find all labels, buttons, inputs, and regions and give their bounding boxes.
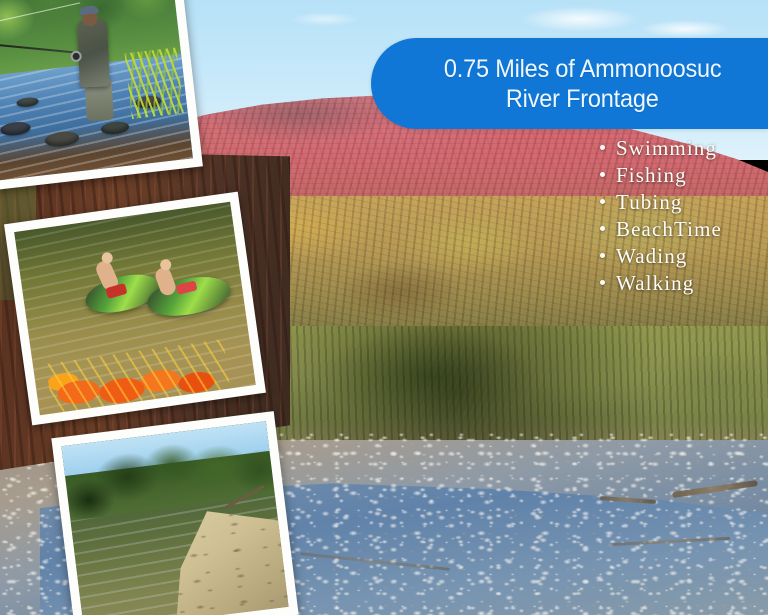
bullet-icon [600,280,605,285]
headline-line-2: River Frontage [506,84,659,114]
bank-grass [125,47,184,118]
list-item: Wading [600,244,722,271]
cloud-icon [520,6,640,32]
river-beach-photo-image [61,421,288,615]
list-item: Swimming [600,136,722,163]
promo-graphic: 0.75 Miles of Ammonoosuc River Frontage … [0,0,768,615]
fly-fishing-photo [0,0,203,190]
activity-list: Swimming Fishing Tubing BeachTime Wading… [600,136,722,298]
angler-body [77,19,110,88]
list-item-label: BeachTime [616,217,722,242]
bullet-icon [600,253,605,258]
list-item-label: Walking [616,271,694,296]
fly-fishing-photo-image [0,0,193,180]
river-tubing-photo-image [14,202,256,416]
list-item: Fishing [600,163,722,190]
cloud-icon [290,12,360,26]
bullet-icon [600,199,605,204]
cloud-icon [640,20,730,38]
list-item-label: Tubing [616,190,683,215]
bullet-icon [600,172,605,177]
bullet-icon [600,145,605,150]
bullet-icon [600,226,605,231]
list-item: BeachTime [600,217,722,244]
list-item-label: Wading [616,244,687,269]
list-item-label: Fishing [616,163,687,188]
river-beach-photo [51,411,298,615]
headline-banner: 0.75 Miles of Ammonoosuc River Frontage [371,38,768,129]
list-item-label: Swimming [616,136,717,161]
list-item: Walking [600,271,722,298]
list-item: Tubing [600,190,722,217]
river-tubing-photo [4,192,266,426]
headline-line-1: 0.75 Miles of Ammonoosuc [444,54,722,84]
